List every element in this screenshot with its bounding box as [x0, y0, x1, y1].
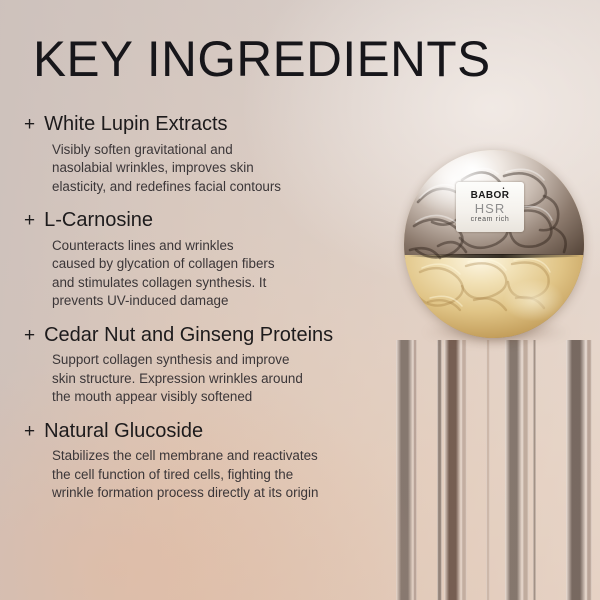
ingredient-description: Stabilizes the cell membrane and reactiv… — [52, 447, 424, 503]
brand-name: BABOR • — [471, 191, 510, 201]
ingredient-item: +L-CarnosineCounteracts lines and wrinkl… — [24, 209, 424, 311]
plus-icon: + — [24, 115, 35, 134]
ingredient-name: L-Carnosine — [44, 209, 153, 233]
ingredient-heading: +White Lupin Extracts — [24, 113, 424, 137]
ingredient-description: Counteracts lines and wrinkles caused by… — [52, 237, 424, 311]
ingredient-name: Natural Glucoside — [44, 420, 203, 444]
jar-embossed-texture — [404, 150, 584, 338]
ingredient-list: +White Lupin ExtractsVisibly soften grav… — [24, 113, 424, 516]
product-jar: BABOR • HSR cream rich — [404, 150, 584, 355]
ingredient-item: +White Lupin ExtractsVisibly soften grav… — [24, 113, 424, 196]
ingredient-description: Visibly soften gravitational and nasolab… — [52, 141, 424, 197]
ingredient-description: Support collagen synthesis and improve s… — [52, 351, 424, 407]
page-title: KEY INGREDIENTS — [33, 34, 491, 84]
ingredient-heading: +Natural Glucoside — [24, 420, 424, 444]
product-variant: cream rich — [471, 216, 510, 223]
brand-accent-mark: • — [503, 187, 505, 192]
plus-icon: + — [24, 422, 35, 441]
product-line-name: HSR — [475, 202, 505, 216]
ingredient-heading: +Cedar Nut and Ginseng Proteins — [24, 324, 424, 348]
ingredient-heading: +L-Carnosine — [24, 209, 424, 233]
ingredient-name: White Lupin Extracts — [44, 113, 227, 137]
ingredient-item: +Cedar Nut and Ginseng ProteinsSupport c… — [24, 324, 424, 407]
plus-icon: + — [24, 326, 35, 345]
jar-label: BABOR • HSR cream rich — [456, 182, 524, 232]
plus-icon: + — [24, 211, 35, 230]
product-ingredients-panel: BABOR • HSR cream rich KEY INGREDIENTS +… — [0, 0, 600, 600]
ingredient-name: Cedar Nut and Ginseng Proteins — [44, 324, 333, 348]
ingredient-item: +Natural GlucosideStabilizes the cell me… — [24, 420, 424, 503]
jar-body: BABOR • HSR cream rich — [404, 150, 584, 338]
